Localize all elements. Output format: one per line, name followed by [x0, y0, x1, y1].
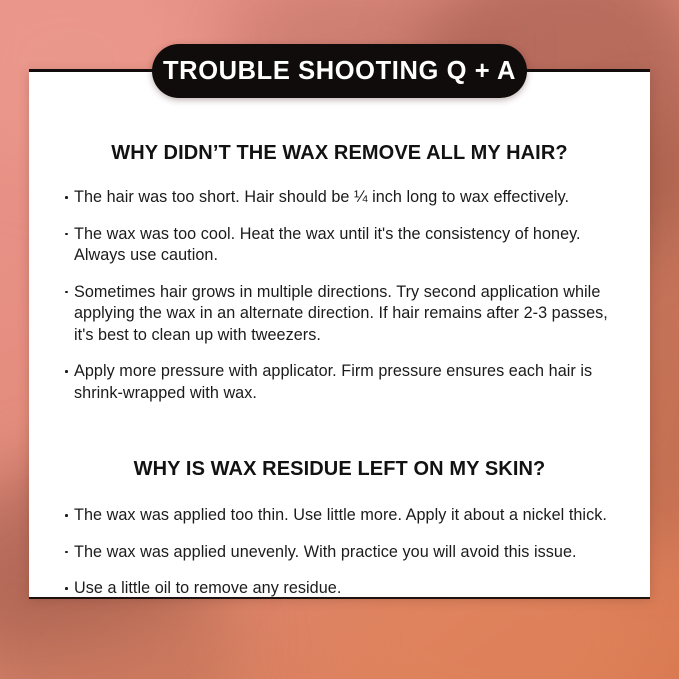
list-item: Sometimes hair grows in multiple directi…	[65, 282, 614, 347]
title-banner: TROUBLE SHOOTING Q + A	[152, 44, 527, 98]
bullet-dot-icon	[65, 551, 68, 554]
bullet-list-wax-residue: The wax was applied too thin. Use little…	[29, 505, 650, 600]
list-item-text: The wax was too cool. Heat the wax until…	[74, 225, 581, 265]
list-item: The hair was too short. Hair should be ¼…	[65, 187, 614, 209]
list-item-text: The hair was too short. Hair should be ¼…	[74, 188, 569, 206]
title-banner-text: TROUBLE SHOOTING Q + A	[163, 57, 516, 86]
section-heading-wax-removal: WHY DIDN’T THE WAX REMOVE ALL MY HAIR?	[29, 142, 650, 165]
bullet-list-wax-removal: The hair was too short. Hair should be ¼…	[29, 187, 650, 404]
bullet-dot-icon	[65, 370, 68, 373]
list-item-text: Apply more pressure with applicator. Fir…	[74, 362, 592, 402]
section-wax-removal: WHY DIDN’T THE WAX REMOVE ALL MY HAIR? T…	[29, 142, 650, 404]
bullet-dot-icon	[65, 196, 68, 199]
bullet-dot-icon	[65, 233, 68, 236]
list-item: Apply more pressure with applicator. Fir…	[65, 361, 614, 404]
bullet-dot-icon	[65, 514, 68, 517]
list-item-text: Sometimes hair grows in multiple directi…	[74, 283, 608, 344]
page-background: WHY DIDN’T THE WAX REMOVE ALL MY HAIR? T…	[0, 0, 679, 679]
list-item: Use a little oil to remove any residue.	[65, 578, 614, 600]
bullet-dot-icon	[65, 291, 68, 294]
list-item-text: The wax was applied too thin. Use little…	[74, 506, 607, 524]
bullet-dot-icon	[65, 587, 68, 590]
list-item-text: The wax was applied unevenly. With pract…	[74, 543, 577, 561]
section-wax-residue: WHY IS WAX RESIDUE LEFT ON MY SKIN? The …	[29, 458, 650, 600]
list-item: The wax was applied unevenly. With pract…	[65, 542, 614, 564]
list-item: The wax was too cool. Heat the wax until…	[65, 224, 614, 267]
list-item: The wax was applied too thin. Use little…	[65, 505, 614, 527]
card-content: WHY DIDN’T THE WAX REMOVE ALL MY HAIR? T…	[29, 72, 650, 600]
section-heading-wax-residue: WHY IS WAX RESIDUE LEFT ON MY SKIN?	[29, 458, 650, 481]
content-card: WHY DIDN’T THE WAX REMOVE ALL MY HAIR? T…	[29, 69, 650, 597]
list-item-text: Use a little oil to remove any residue.	[74, 579, 341, 597]
